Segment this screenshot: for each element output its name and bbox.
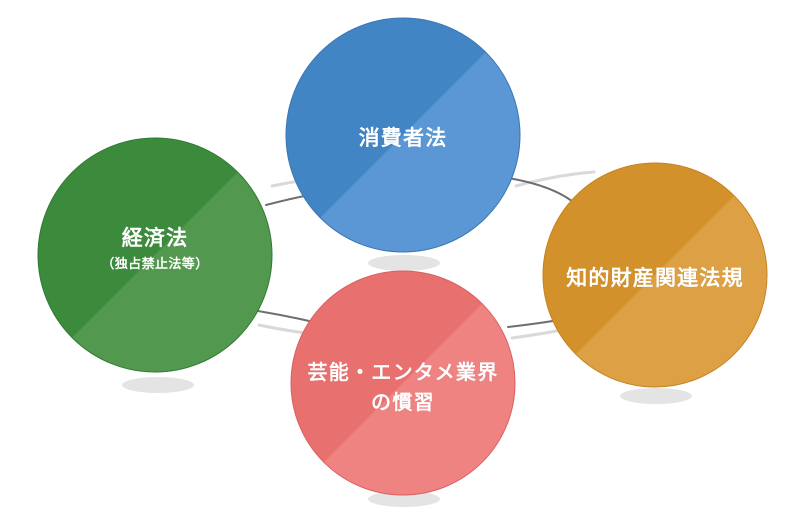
diagram-svg bbox=[0, 0, 800, 525]
shadow-consumer-law bbox=[368, 255, 440, 271]
node-intellectual-property-regulations[interactable] bbox=[543, 163, 767, 387]
shadow-intellectual-property bbox=[620, 388, 692, 404]
node-entertainment-industry-customs[interactable] bbox=[291, 271, 515, 495]
diagram-canvas: 経済法 （独占禁止法等） 消費者法 知的財産関連法規 芸能・エンタメ業界 の慣習 bbox=[0, 0, 800, 525]
node-consumer-law[interactable] bbox=[286, 18, 520, 252]
node-economic-law[interactable] bbox=[38, 138, 272, 372]
shadow-economic-law bbox=[122, 377, 194, 393]
